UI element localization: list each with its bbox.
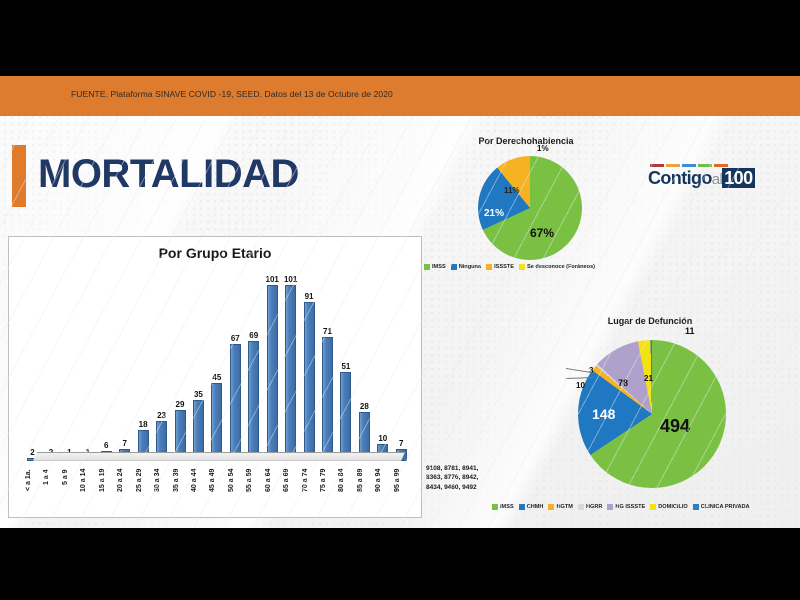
bar-value-label: 69 <box>249 332 258 340</box>
logo-dashes <box>648 164 760 167</box>
source-band: FUENTE. Plataforma SINAVE COVID -19, SEE… <box>0 76 800 116</box>
bar-x-label: 55 a 59 <box>246 469 261 513</box>
bar-x-label: < a 1a. <box>25 469 40 513</box>
bar-item: 18 <box>136 269 151 461</box>
bar-item: 23 <box>154 269 169 461</box>
bar-rect <box>285 285 296 461</box>
bar-chart-axis <box>33 452 405 461</box>
bar-x-label: 35 a 39 <box>173 469 188 513</box>
bar-x-label: 50 a 54 <box>228 469 243 513</box>
bar-x-label: 65 a 69 <box>283 469 298 513</box>
footnote: 9108, 8781, 8941, 8363, 8776, 8942, 8434… <box>426 464 478 492</box>
pie2-label-148: 148 <box>592 406 615 422</box>
bar-chart-plot: 2211671823293545676910110191715128107 <box>25 269 409 461</box>
bar-rect <box>340 372 351 461</box>
footnote-line-3: 8434, 9460, 9492 <box>426 483 478 492</box>
logo-dash-3 <box>682 164 696 167</box>
bar-item: 67 <box>228 269 243 461</box>
bar-rect <box>304 302 315 461</box>
bar-item: 1 <box>80 269 95 461</box>
pie2-label-494: 494 <box>660 416 690 437</box>
bar-value-label: 10 <box>378 435 387 443</box>
legend-label: DOMICILIO <box>658 504 688 510</box>
legend-swatch <box>578 504 584 510</box>
bar-value-label: 91 <box>305 293 314 301</box>
bar-item: 91 <box>302 269 317 461</box>
bar-value-label: 67 <box>231 335 240 343</box>
pie2-title: Lugar de Defunción <box>530 316 770 326</box>
legend-label: CHMH <box>527 504 544 510</box>
bar-item: 35 <box>191 269 206 461</box>
bar-rect <box>230 344 241 461</box>
pie2-label-21: 21 <box>644 374 653 383</box>
bar-value-label: 23 <box>157 412 166 420</box>
legend-item: HGRR <box>578 504 602 510</box>
legend-label: IMSS <box>432 264 446 270</box>
bar-rect <box>248 341 259 461</box>
pie2-label-10: 10 <box>576 381 585 390</box>
source-text: FUENTE. Plataforma SINAVE COVID -19, SEE… <box>71 89 393 99</box>
pie1-label-1pct: 1% <box>537 144 549 153</box>
logo-text: Contigoal100 <box>648 169 760 187</box>
bar-item: 101 <box>283 269 298 461</box>
legend-label: ISSSTE <box>494 264 514 270</box>
bar-x-label: 25 a 29 <box>136 469 151 513</box>
legend-item: Se desconoce (Foráneos) <box>519 264 595 270</box>
contigo-al-100-logo: Contigoal100 <box>648 164 760 187</box>
bar-chart-x-labels: < a 1a.1 a 45 a 910 a 1415 a 1920 a 2425… <box>25 469 409 513</box>
pie2-legend: IMSSCHMHHGTMHGRRHG ISSSTEDOMICILIOCLINIC… <box>492 504 750 510</box>
legend-label: IMSS <box>500 504 514 510</box>
bar-chart-por-grupo-etario: Por Grupo Etario 22116718232935456769101… <box>8 236 422 518</box>
legend-item: IMSS <box>424 264 446 270</box>
bar-rect <box>211 383 222 461</box>
pie2-label-11: 11 <box>685 326 695 336</box>
bar-item: 1 <box>62 269 77 461</box>
bar-item: 2 <box>43 269 58 461</box>
bar-item: 69 <box>246 269 261 461</box>
legend-item: IMSS <box>492 504 514 510</box>
bar-rect <box>322 337 333 461</box>
bar-value-label: 6 <box>104 442 108 450</box>
legend-item: Ninguna <box>451 264 481 270</box>
legend-label: Ninguna <box>459 264 481 270</box>
bar-x-label: 90 a 94 <box>375 469 390 513</box>
bar-rect <box>267 285 278 461</box>
bar-item: 71 <box>320 269 335 461</box>
pie2-label-78: 78 <box>618 378 628 388</box>
bar-value-label: 2 <box>30 449 34 457</box>
bar-value-label: 101 <box>266 276 279 284</box>
bar-x-label: 40 a 44 <box>191 469 206 513</box>
bar-x-label: 10 a 14 <box>80 469 95 513</box>
legend-label: HGRR <box>586 504 602 510</box>
slide-canvas: MORTALIDAD Contigoal100 Por Grupo Etario… <box>0 116 800 528</box>
legend-label: HG ISSSTE <box>615 504 645 510</box>
pie1-label-67pct: 67% <box>530 226 554 240</box>
pie1-label-21pct: 21% <box>484 208 504 219</box>
slide-screenshot: FUENTE. Plataforma SINAVE COVID -19, SEE… <box>0 0 800 600</box>
legend-item: CLINICA PRIVADA <box>693 504 750 510</box>
legend-swatch <box>492 504 498 510</box>
legend-item: CHMH <box>519 504 544 510</box>
legend-swatch <box>548 504 554 510</box>
legend-swatch <box>607 504 613 510</box>
bar-item: 6 <box>99 269 114 461</box>
bar-x-label: 75 a 79 <box>320 469 335 513</box>
legend-swatch <box>693 504 699 510</box>
pie2-label-3: 3 <box>589 366 593 375</box>
legend-label: CLINICA PRIVADA <box>701 504 750 510</box>
bar-value-label: 29 <box>176 401 185 409</box>
bar-item: 7 <box>394 269 409 461</box>
bar-item: 7 <box>117 269 132 461</box>
bar-item: 51 <box>338 269 353 461</box>
page-title: MORTALIDAD <box>38 152 299 197</box>
legend-item: HG ISSSTE <box>607 504 645 510</box>
bar-series: 2211671823293545676910110191715128107 <box>25 269 409 461</box>
bar-x-label: 20 a 24 <box>117 469 132 513</box>
bar-x-label: 15 a 19 <box>99 469 114 513</box>
legend-item: HGTM <box>548 504 572 510</box>
legend-swatch <box>650 504 656 510</box>
legend-swatch <box>486 264 492 270</box>
legend-swatch <box>451 264 457 270</box>
bar-x-label: 5 a 9 <box>62 469 77 513</box>
title-accent-bar <box>12 145 26 207</box>
bar-value-label: 45 <box>212 374 221 382</box>
logo-dash-2 <box>666 164 680 167</box>
bar-x-label: 80 a 84 <box>338 469 353 513</box>
footnote-line-2: 8363, 8776, 8942, <box>426 473 478 482</box>
bar-value-label: 51 <box>341 363 350 371</box>
bar-item: 29 <box>173 269 188 461</box>
logo-dash-4 <box>698 164 712 167</box>
bar-item: 10 <box>375 269 390 461</box>
bar-x-label: 85 a 89 <box>357 469 372 513</box>
logo-dash-5 <box>714 164 728 167</box>
bar-value-label: 7 <box>122 440 126 448</box>
logo-word-100: 100 <box>722 168 754 188</box>
pie1-title: Por Derechohabiencia <box>430 136 622 146</box>
bar-value-label: 71 <box>323 328 332 336</box>
legend-swatch <box>424 264 430 270</box>
logo-word-al: al <box>712 171 722 188</box>
bar-x-label: 45 a 49 <box>209 469 224 513</box>
legend-item: ISSSTE <box>486 264 514 270</box>
legend-swatch <box>519 504 525 510</box>
pie1-legend: IMSSNingunaISSSTESe desconoce (Foráneos) <box>424 264 595 270</box>
bar-item: 45 <box>209 269 224 461</box>
legend-label: HGTM <box>556 504 572 510</box>
bar-x-label: 70 a 74 <box>302 469 317 513</box>
bar-value-label: 18 <box>139 421 148 429</box>
bar-value-label: 28 <box>360 403 369 411</box>
logo-word-contigo: Contigo <box>648 168 712 188</box>
bar-value-label: 7 <box>399 440 403 448</box>
footnote-line-1: 9108, 8781, 8941, <box>426 464 478 473</box>
bar-item: 28 <box>357 269 372 461</box>
bar-value-label: 35 <box>194 391 203 399</box>
bar-x-label: 60 a 64 <box>265 469 280 513</box>
bar-x-label: 30 a 34 <box>154 469 169 513</box>
legend-item: DOMICILIO <box>650 504 688 510</box>
bar-chart-title: Por Grupo Etario <box>9 245 421 261</box>
bar-item: 2 <box>25 269 40 461</box>
bar-value-label: 101 <box>284 276 297 284</box>
bar-x-label: 1 a 4 <box>43 469 58 513</box>
legend-swatch <box>519 264 525 270</box>
pie1-label-11pct: 11% <box>504 186 520 195</box>
legend-label: Se desconoce (Foráneos) <box>527 264 595 270</box>
logo-dash-1 <box>650 164 664 167</box>
bar-item: 101 <box>265 269 280 461</box>
bar-x-label: 95 a 99 <box>394 469 409 513</box>
